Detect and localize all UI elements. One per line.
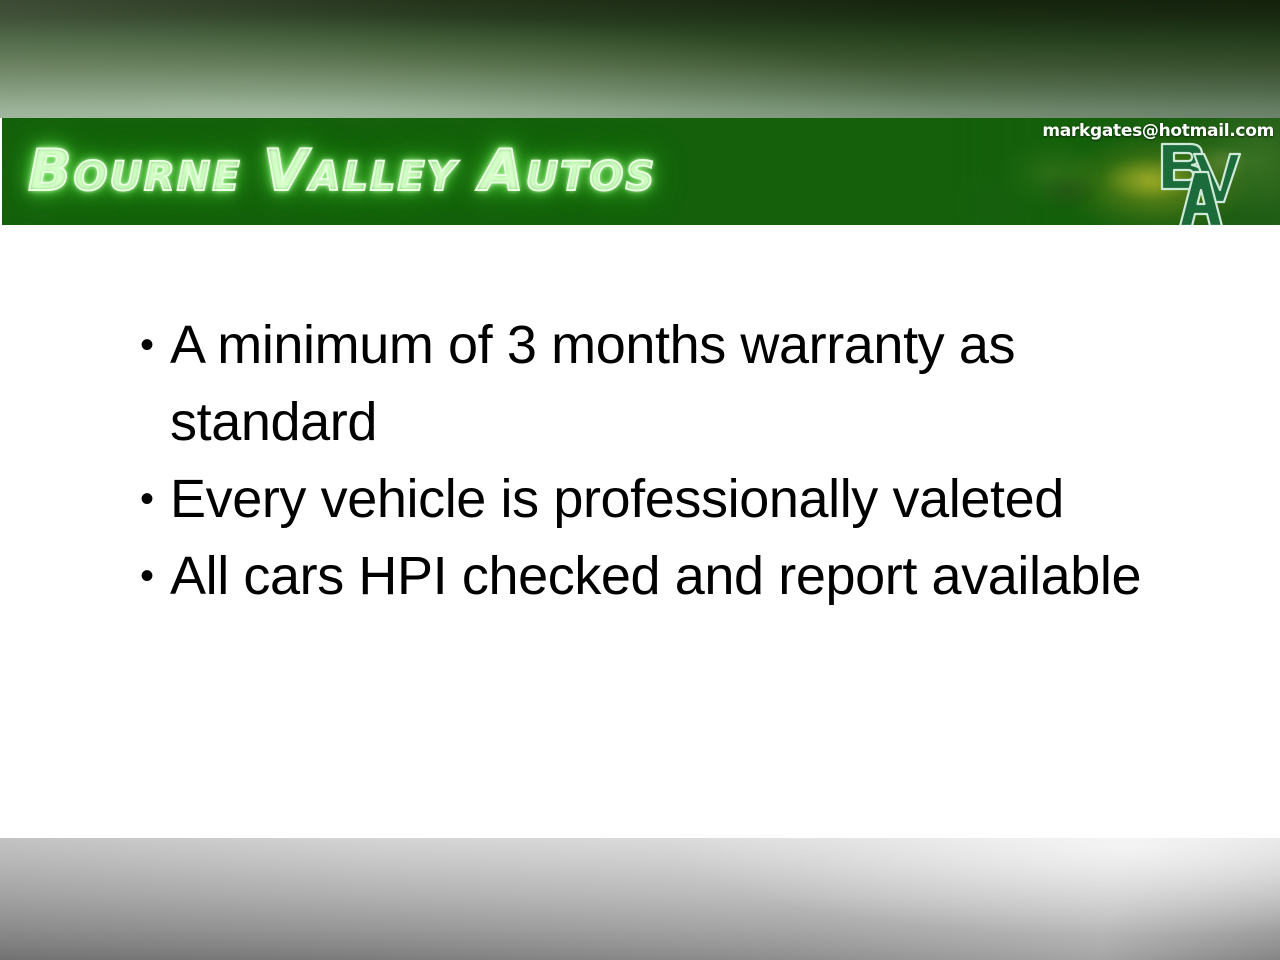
bullet-text: All cars HPI checked and report availabl… <box>170 538 1150 615</box>
bottom-band-highlight <box>0 838 1280 960</box>
bullet-text: Every vehicle is professionally valeted <box>170 461 1150 538</box>
company-logo-text: Bourne Valley Autos <box>28 140 656 202</box>
bullet-text: A minimum of 3 months warranty as standa… <box>170 307 1150 461</box>
bullet-point-icon: • <box>140 461 170 538</box>
list-item: • Every vehicle is professionally valete… <box>140 461 1150 538</box>
bva-monogram-logo <box>1132 138 1252 225</box>
list-item: • All cars HPI checked and report availa… <box>140 538 1150 615</box>
bullet-point-icon: • <box>140 538 170 615</box>
bullet-list: • A minimum of 3 months warranty as stan… <box>140 307 1150 615</box>
slide-body: • A minimum of 3 months warranty as stan… <box>0 225 1280 838</box>
presentation-slide: Bourne Valley Autos markgates@hotmail.co… <box>0 0 1280 960</box>
header-banner: Bourne Valley Autos markgates@hotmail.co… <box>2 118 1280 225</box>
top-band-highlight <box>0 0 1280 118</box>
list-item: • A minimum of 3 months warranty as stan… <box>140 307 1150 461</box>
bullet-point-icon: • <box>140 307 170 384</box>
